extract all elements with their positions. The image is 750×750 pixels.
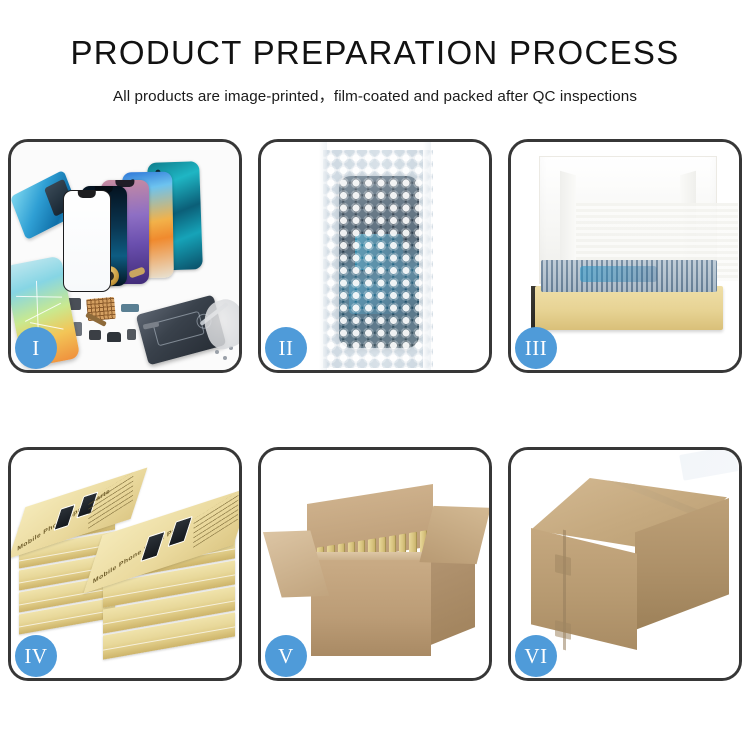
step-badge-6: VI bbox=[515, 635, 557, 677]
product-preparation-infographic: PRODUCT PREPARATION PROCESS All products… bbox=[0, 0, 750, 750]
wrap-edge-right bbox=[423, 142, 431, 370]
step-badge-4: IV bbox=[15, 635, 57, 677]
screw-part bbox=[223, 356, 227, 360]
step-panel-6: VI bbox=[508, 447, 742, 681]
box-spec-lines bbox=[193, 491, 238, 548]
page-title: PRODUCT PREPARATION PROCESS bbox=[0, 34, 750, 72]
box-product-photo bbox=[167, 516, 192, 547]
carton-tape bbox=[588, 466, 700, 517]
spare-part bbox=[121, 304, 139, 312]
header: PRODUCT PREPARATION PROCESS All products… bbox=[0, 0, 750, 106]
step-badge-2: II bbox=[265, 327, 307, 369]
box-product-photo bbox=[140, 531, 165, 562]
step-panel-3: III bbox=[508, 139, 742, 373]
page-subtitle: All products are image-printed，film-coat… bbox=[0, 84, 750, 106]
steps-grid: I II bbox=[8, 139, 742, 681]
bubble-wrap-sheet bbox=[323, 150, 433, 368]
spare-part bbox=[127, 329, 136, 340]
box-spec-lines bbox=[88, 472, 133, 529]
carton-front-face bbox=[531, 528, 637, 650]
screw-part bbox=[215, 350, 219, 354]
spare-part bbox=[89, 330, 101, 340]
spare-part bbox=[107, 332, 121, 342]
screen-protector bbox=[63, 190, 111, 292]
retail-box-stack: Mobile Phone Spare Parts Mobile Phone Sp… bbox=[17, 474, 239, 668]
step-panel-1: I bbox=[8, 139, 242, 373]
carton-front-face bbox=[311, 560, 431, 656]
wrapped-screens-in-tray bbox=[541, 260, 717, 292]
kraft-tray bbox=[535, 286, 723, 330]
step-panel-4: Mobile Phone Spare Parts Mobile Phone Sp… bbox=[8, 447, 242, 681]
bubble-highlights bbox=[323, 150, 433, 368]
step-panel-5: V bbox=[258, 447, 492, 681]
step-badge-3: III bbox=[515, 327, 557, 369]
step-panel-2: II bbox=[258, 139, 492, 373]
step-badge-1: I bbox=[15, 327, 57, 369]
wrap-edge-left bbox=[319, 142, 327, 370]
step-badge-5: V bbox=[265, 635, 307, 677]
sealed-carton bbox=[523, 474, 735, 664]
